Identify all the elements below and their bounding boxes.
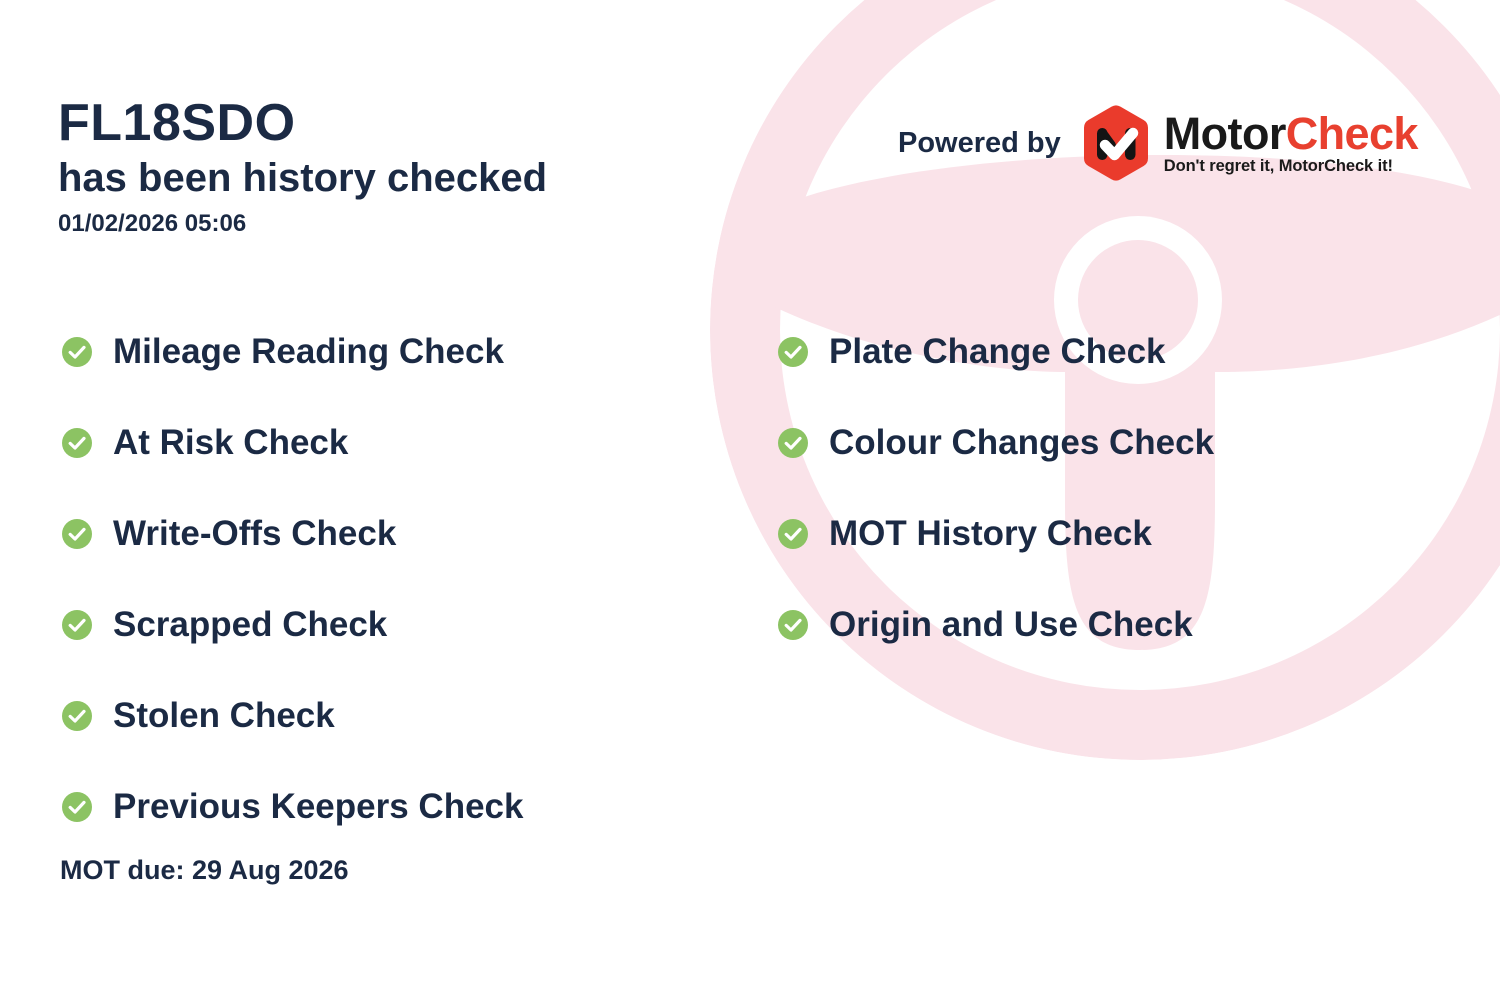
circle-check-icon — [778, 519, 808, 549]
motorcheck-logo[interactable]: MotorCheck Don't regret it, MotorCheck i… — [1078, 104, 1418, 182]
wordmark-motor: Motor — [1164, 108, 1286, 159]
circle-check-icon — [778, 337, 808, 367]
check-item-label: At Risk Check — [113, 425, 348, 460]
check-item-label: Colour Changes Check — [829, 425, 1214, 460]
mot-due-text: MOT due: 29 Aug 2026 — [60, 855, 349, 886]
check-item-mot-history: MOT History Check — [778, 488, 1214, 579]
check-item-label: Plate Change Check — [829, 334, 1166, 369]
share-card: FL18SDO has been history checked 01/02/2… — [0, 0, 1500, 1000]
check-item-label: Previous Keepers Check — [113, 789, 523, 824]
check-item-mileage-reading: Mileage Reading Check — [62, 306, 523, 397]
check-item-stolen: Stolen Check — [62, 670, 523, 761]
circle-check-icon — [62, 610, 92, 640]
check-item-at-risk: At Risk Check — [62, 397, 523, 488]
circle-check-icon — [62, 792, 92, 822]
circle-check-icon — [778, 428, 808, 458]
check-item-origin-and-use: Origin and Use Check — [778, 579, 1214, 670]
circle-check-icon — [62, 701, 92, 731]
check-item-label: Origin and Use Check — [829, 607, 1193, 642]
check-item-label: Stolen Check — [113, 698, 335, 733]
circle-check-icon — [62, 428, 92, 458]
circle-check-icon — [62, 519, 92, 549]
wordmark-check: Check — [1286, 108, 1418, 159]
check-item-colour-changes: Colour Changes Check — [778, 397, 1214, 488]
brand-tagline: Don't regret it, MotorCheck it! — [1164, 157, 1418, 176]
powered-by-lockup: Powered by MotorCheck Don't regret it, M… — [898, 104, 1418, 182]
motorcheck-wordmark: MotorCheck Don't regret it, MotorCheck i… — [1164, 111, 1418, 176]
header-block: FL18SDO has been history checked 01/02/2… — [58, 96, 547, 238]
check-item-scrapped: Scrapped Check — [62, 579, 523, 670]
checklist-right-column: Plate Change Check Colour Changes Check … — [778, 306, 1214, 670]
check-item-previous-keepers: Previous Keepers Check — [62, 761, 523, 852]
motorcheck-hexagon-logo-icon — [1078, 104, 1154, 182]
page-title: has been history checked — [58, 155, 547, 202]
check-item-label: Write-Offs Check — [113, 516, 396, 551]
checklist-left-column: Mileage Reading Check At Risk Check Writ… — [62, 306, 523, 852]
check-item-label: Mileage Reading Check — [113, 334, 504, 369]
wordmark-text: MotorCheck — [1164, 111, 1418, 156]
powered-by-label: Powered by — [898, 127, 1061, 160]
check-timestamp: 01/02/2026 05:06 — [58, 210, 547, 238]
check-item-write-offs: Write-Offs Check — [62, 488, 523, 579]
check-item-label: Scrapped Check — [113, 607, 387, 642]
circle-check-icon — [778, 610, 808, 640]
circle-check-icon — [62, 337, 92, 367]
check-item-plate-change: Plate Change Check — [778, 306, 1214, 397]
check-item-label: MOT History Check — [829, 516, 1152, 551]
registration-plate: FL18SDO — [58, 96, 547, 151]
